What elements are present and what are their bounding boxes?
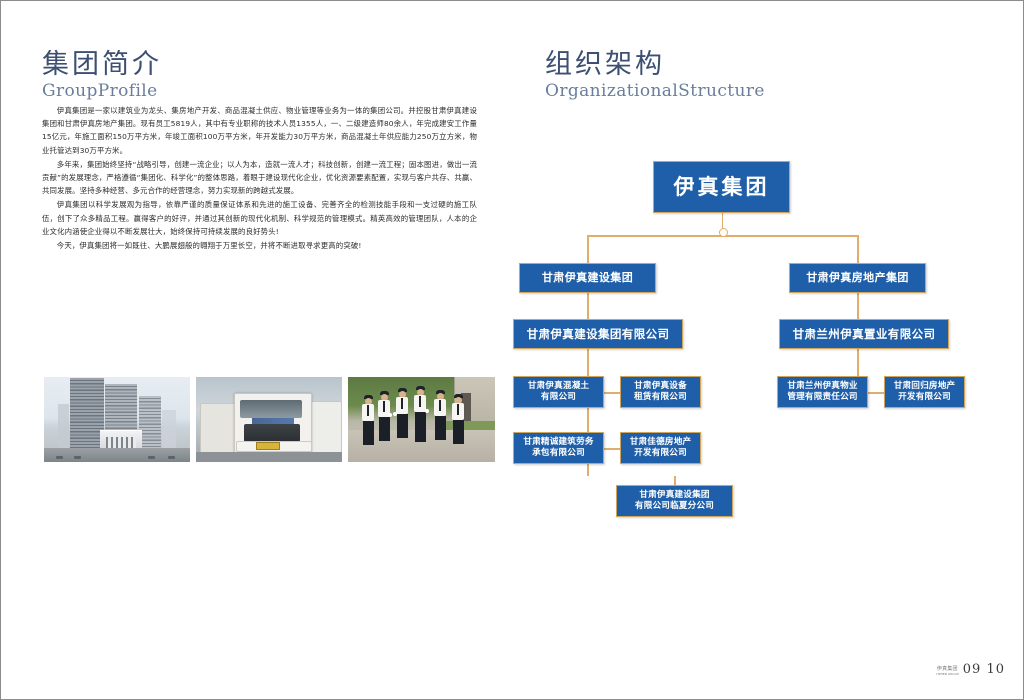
org-node-level2-construction[interactable]: 甘肃伊真建设集团 [519, 263, 656, 293]
org-node-level3-lanzhou-zhiye[interactable]: 甘肃兰州伊真置业有限公司 [779, 319, 949, 349]
building-tower-far-right [162, 410, 176, 448]
group-profile-body: 伊真集团是一家以建筑业为龙头、集房地产开发、商品混凝土供应、物业管理等业务为一体… [42, 104, 477, 253]
car-icon [168, 456, 175, 459]
group-profile-heading-en: GroupProfile [42, 81, 162, 101]
paragraph-1: 伊真集团是一家以建筑业为龙头、集房地产开发、商品混凝土供应、物业管理等业务为一体… [42, 104, 477, 157]
truck-windshield [240, 400, 302, 418]
connector-to-level2-right [857, 235, 859, 263]
car-icon [74, 456, 81, 459]
left-page: 集团简介 GroupProfile 伊真集团是一家以建筑业为龙头、集房地产开发、… [1, 1, 513, 700]
group-profile-heading-cn: 集团简介 [42, 49, 162, 80]
building-ground [44, 448, 190, 462]
org-node-leaf-huigui-realestate[interactable]: 甘肃回归房地产 开发有限公司 [884, 376, 965, 408]
photo-concrete-mixer-trucks [196, 377, 342, 462]
group-profile-heading: 集团简介 GroupProfile [42, 49, 162, 101]
org-node-leaf-equipment-leasing[interactable]: 甘肃伊真设备 租赁有限公司 [620, 376, 701, 408]
car-icon [56, 456, 63, 459]
paragraph-4: 今天，伊真集团将一如既往、大鹏展翅般的翱翔于万里长空，并将不断进取寻求更高的突破… [42, 239, 477, 252]
building-podium [100, 430, 142, 448]
paragraph-2: 多年来，集团始终坚持“战略引导，创建一流企业；以人为本，造就一流人才；科技创新，… [42, 158, 477, 198]
org-node-leaf-labor-contracting[interactable]: 甘肃精诚建筑劳务 承包有限公司 [513, 432, 604, 464]
car-icon [148, 456, 155, 459]
truck-grille [244, 424, 300, 442]
page-footer: 伊真集团 YIZHEN GROUP 09 10 [936, 662, 1005, 677]
org-node-leaf-jiade-realestate[interactable]: 甘肃佳德房地产 开发有限公司 [620, 432, 701, 464]
org-node-level2-realestate[interactable]: 甘肃伊真房地产集团 [789, 263, 926, 293]
photo-strip [44, 377, 495, 462]
truck-license-plate [256, 442, 280, 450]
footer-logo: 伊真集团 YIZHEN GROUP [936, 667, 959, 677]
footer-logo-en: YIZHEN GROUP [936, 673, 959, 676]
org-node-level3-construction-ltd[interactable]: 甘肃伊真建设集团有限公司 [513, 319, 683, 349]
connector-junction-root [719, 228, 728, 237]
org-node-linxia-branch[interactable]: 甘肃伊真建设集团 有限公司临夏分公司 [616, 485, 733, 517]
org-chart: 伊真集团 甘肃伊真建设集团 甘肃伊真房地产集团 甘肃伊真建设集团有限公司 甘肃兰… [513, 1, 1024, 700]
photo-security-team-marching [348, 377, 495, 462]
building-tower-left [70, 378, 104, 448]
right-page: 组织架构 OrganizationalStructure [513, 1, 1024, 700]
photo-highrise-building [44, 377, 190, 462]
org-node-leaf-concrete[interactable]: 甘肃伊真混凝土 有限公司 [513, 376, 604, 408]
connector-level2-left-to-level3 [587, 293, 589, 319]
brochure-spread: 集团简介 GroupProfile 伊真集团是一家以建筑业为龙头、集房地产开发、… [0, 0, 1024, 700]
building-tower-far-left [58, 404, 69, 448]
org-node-root[interactable]: 伊真集团 [653, 161, 790, 213]
org-node-leaf-property-management[interactable]: 甘肃兰州伊真物业 管理有限责任公司 [777, 376, 868, 408]
building-tower-right [139, 396, 161, 448]
truck-tertiary [308, 401, 342, 453]
connector-to-level2-left [587, 235, 589, 263]
page-number: 09 10 [963, 662, 1005, 677]
paragraph-3: 伊真集团以科学发展观为指导，依靠严谨的质量保证体系和先进的施工设备、完善齐全的检… [42, 198, 477, 238]
connector-level2-right-to-level3 [857, 293, 859, 319]
truck-ground [196, 452, 342, 462]
